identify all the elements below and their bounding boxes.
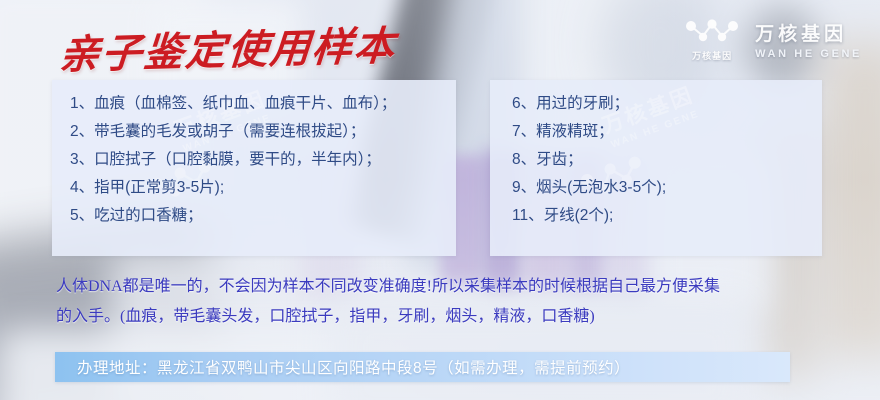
note-paragraph: 人体DNA都是唯一的，不会因为样本不同改变准确度!所以采集样本的时候根据自己最方… <box>56 272 846 332</box>
page-title: 亲子鉴定使用样本 <box>57 13 398 80</box>
note-line-2: 的入手。(血痕，带毛囊头发，口腔拭子，指甲，牙刷，烟头，精液，口香糖) <box>56 302 846 332</box>
list-item: 6、用过的牙刷； <box>512 90 822 118</box>
sample-list-panel-left: 万核基因 WAN HE GENE 1、血痕（血棉签、纸巾血、血痕干片、血布）； … <box>52 80 456 256</box>
list-item: 8、牙齿； <box>512 146 822 174</box>
list-item: 5、吃过的口香糖； <box>70 202 456 230</box>
list-item: 2、带毛囊的毛发或胡子（需要连根拔起）； <box>70 118 456 146</box>
list-item: 1、血痕（血棉签、纸巾血、血痕干片、血布）； <box>70 90 456 118</box>
sample-list-left: 1、血痕（血棉签、纸巾血、血痕干片、血布）； 2、带毛囊的毛发或胡子（需要连根拔… <box>52 80 456 230</box>
list-item: 9、烟头(无泡水3-5个); <box>512 174 822 202</box>
molecule-icon <box>683 16 741 46</box>
address-bar: 办理地址：黑龙江省双鸭山市尖山区向阳路中段8号（如需办理，需提前预约） <box>55 352 790 382</box>
brand-mark-label: 万核基因 <box>692 49 732 62</box>
list-item: 4、指甲(正常剪3-5片); <box>70 174 456 202</box>
sample-list-panel-right: 万核基因 WAN HE GENE 6、用过的牙刷； 7、精液精斑； 8、牙齿； … <box>490 80 822 256</box>
poster-root: 亲子鉴定使用样本 <box>0 0 880 400</box>
brand-mark: 万核基因 <box>683 16 741 62</box>
list-item: 11、牙线(2个); <box>512 202 822 230</box>
sample-list-right: 6、用过的牙刷； 7、精液精斑； 8、牙齿； 9、烟头(无泡水3-5个); 11… <box>490 80 822 230</box>
address-text: 办理地址：黑龙江省双鸭山市尖山区向阳路中段8号（如需办理，需提前预约） <box>55 356 630 378</box>
brand-name-en: WAN HE GENE <box>755 48 862 60</box>
list-item: 3、口腔拭子（口腔黏膜，要干的，半年内）； <box>70 146 456 174</box>
note-line-1: 人体DNA都是唯一的，不会因为样本不同改变准确度!所以采集样本的时候根据自己最方… <box>56 272 846 302</box>
brand-logo: 万核基因 万核基因 WAN HE GENE <box>683 16 862 62</box>
list-item: 7、精液精斑； <box>512 118 822 146</box>
brand-name-cn: 万核基因 <box>755 19 862 46</box>
